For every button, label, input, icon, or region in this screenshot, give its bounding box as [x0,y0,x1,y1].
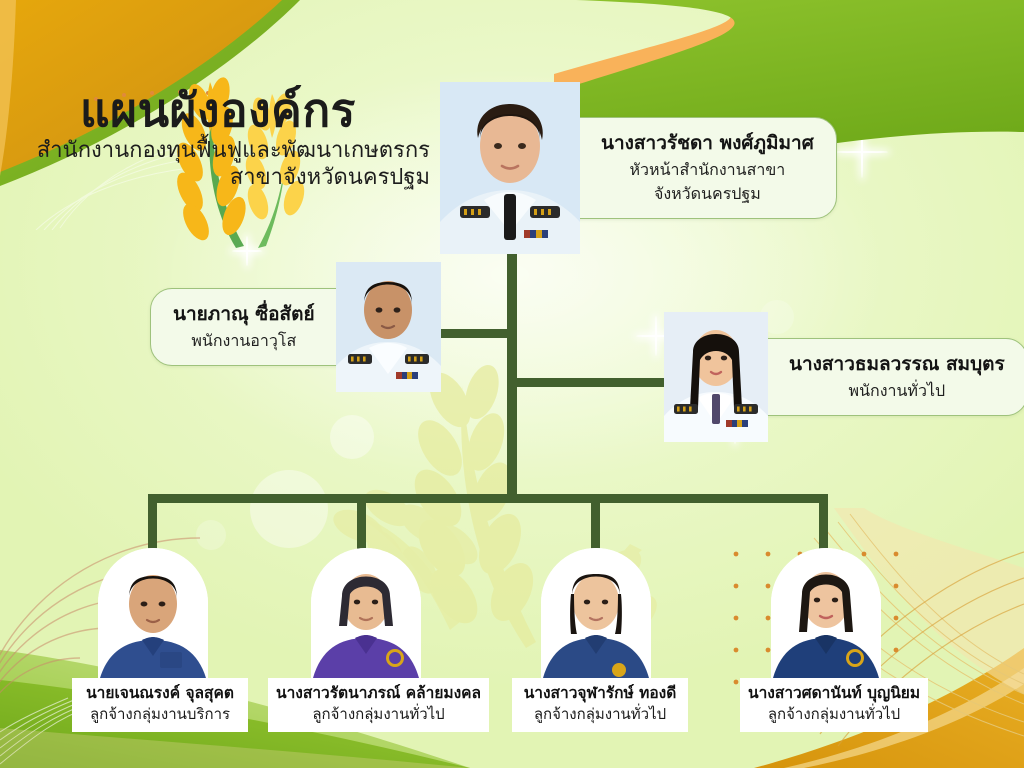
connector-drop-1 [148,494,157,550]
org-node-staff-2-name: นางสาวรัตนาภรณ์ คล้ายมงคล [276,683,481,703]
page-title: แผนผังองค์กร [80,86,434,135]
org-node-head-role-line-1: หัวหน้าสำนักงานสาขา [629,159,785,180]
org-node-staff-4-name: นางสาวศดานันท์ บุญนิยม [748,683,920,703]
avatar-staff-1 [98,548,208,678]
poster-header: แผนผังองค์กร สำนักงานกองทุนฟื้นฟูและพัฒน… [34,86,434,192]
portrait-staff-3-icon [541,548,651,678]
org-node-staff-4[interactable]: นางสาวศดานันท์ บุญนิยม ลูกจ้างกลุ่มงานทั… [740,548,912,732]
org-node-staff-1-caption: นายเจนณรงค์ จุลสุคต ลูกจ้างกลุ่มงานบริกา… [72,678,248,732]
portrait-head-icon [440,82,580,254]
org-node-staff-2-role: ลูกจ้างกลุ่มงานทั่วไป [276,704,481,724]
avatar-staff-2 [311,548,421,678]
org-node-general-panel: นางสาวธมลวรรณ สมบุตร พนักงานทั่วไป [734,338,1024,416]
avatar-staff-3 [541,548,651,678]
org-chart-poster: แผนผังองค์กร สำนักงานกองทุนฟื้นฟูและพัฒน… [0,0,1024,768]
portrait-general-icon [664,312,768,442]
portrait-staff-1-icon [98,548,208,678]
portrait-staff-4-icon [771,548,881,678]
org-node-staff-3-name: นางสาวจุฬารักษ์ ทองดี [520,683,680,703]
avatar-general-officer [664,312,768,442]
connector-branch-right [512,378,672,387]
org-node-general[interactable]: นางสาวธมลวรรณ สมบุตร พนักงานทั่วไป [664,312,1024,442]
org-node-staff-1[interactable]: นายเจนณรงค์ จุลสุคต ลูกจ้างกลุ่มงานบริกา… [72,548,234,732]
org-node-staff-2-caption: นางสาวรัตนาภรณ์ คล้ายมงคล ลูกจ้างกลุ่มงา… [268,678,489,732]
avatar-staff-4 [771,548,881,678]
connector-drop-3 [591,494,600,550]
org-node-head-name: นางสาวรัชดา พงศ์ภูมิมาศ [601,132,814,156]
page-subtitle-line-1: สำนักงานกองทุนฟื้นฟูและพัฒนาเกษตรกร [34,137,434,165]
page-subtitle-line-2: สาขาจังหวัดนครปฐม [34,164,434,192]
portrait-staff-2-icon [311,548,421,678]
avatar-head-officer [440,82,580,254]
org-node-senior[interactable]: นายภาณุ ซื่อสัตย์ พนักงานอาวุโส [150,262,441,392]
org-node-senior-name: นายภาณุ ซื่อสัตย์ [173,303,315,327]
org-node-staff-3[interactable]: นางสาวจุฬารักษ์ ทองดี ลูกจ้างกลุ่มงานทั่… [512,548,680,732]
connector-trunk-vertical [507,246,517,502]
org-node-staff-3-role: ลูกจ้างกลุ่มงานทั่วไป [520,704,680,724]
org-node-head-panel: นางสาวรัชดา พงศ์ภูมิมาศ หัวหน้าสำนักงานส… [546,117,837,219]
org-node-head[interactable]: นางสาวรัชดา พงศ์ภูมิมาศ หัวหน้าสำนักงานส… [440,82,837,254]
connector-drop-4 [819,494,828,550]
org-node-staff-3-caption: นางสาวจุฬารักษ์ ทองดี ลูกจ้างกลุ่มงานทั่… [512,678,688,732]
org-node-staff-4-role: ลูกจ้างกลุ่มงานทั่วไป [748,704,920,724]
org-node-staff-1-name: นายเจนณรงค์ จุลสุคต [80,683,240,703]
org-node-general-role: พนักงานทั่วไป [849,380,946,401]
org-node-staff-4-caption: นางสาวศดานันท์ บุญนิยม ลูกจ้างกลุ่มงานทั… [740,678,928,732]
connector-drop-2 [357,494,366,550]
connector-bottom-rail [148,494,828,503]
portrait-senior-icon [336,262,441,392]
org-node-general-name: นางสาวธมลวรรณ สมบุตร [789,353,1005,377]
org-node-head-role-line-2: จังหวัดนครปฐม [654,183,761,204]
avatar-senior-officer [336,262,441,392]
org-node-staff-2[interactable]: นางสาวรัตนาภรณ์ คล้ายมงคล ลูกจ้างกลุ่มงา… [268,548,464,732]
org-node-senior-role: พนักงานอาวุโส [191,330,296,351]
org-node-staff-1-role: ลูกจ้างกลุ่มงานบริการ [80,704,240,724]
